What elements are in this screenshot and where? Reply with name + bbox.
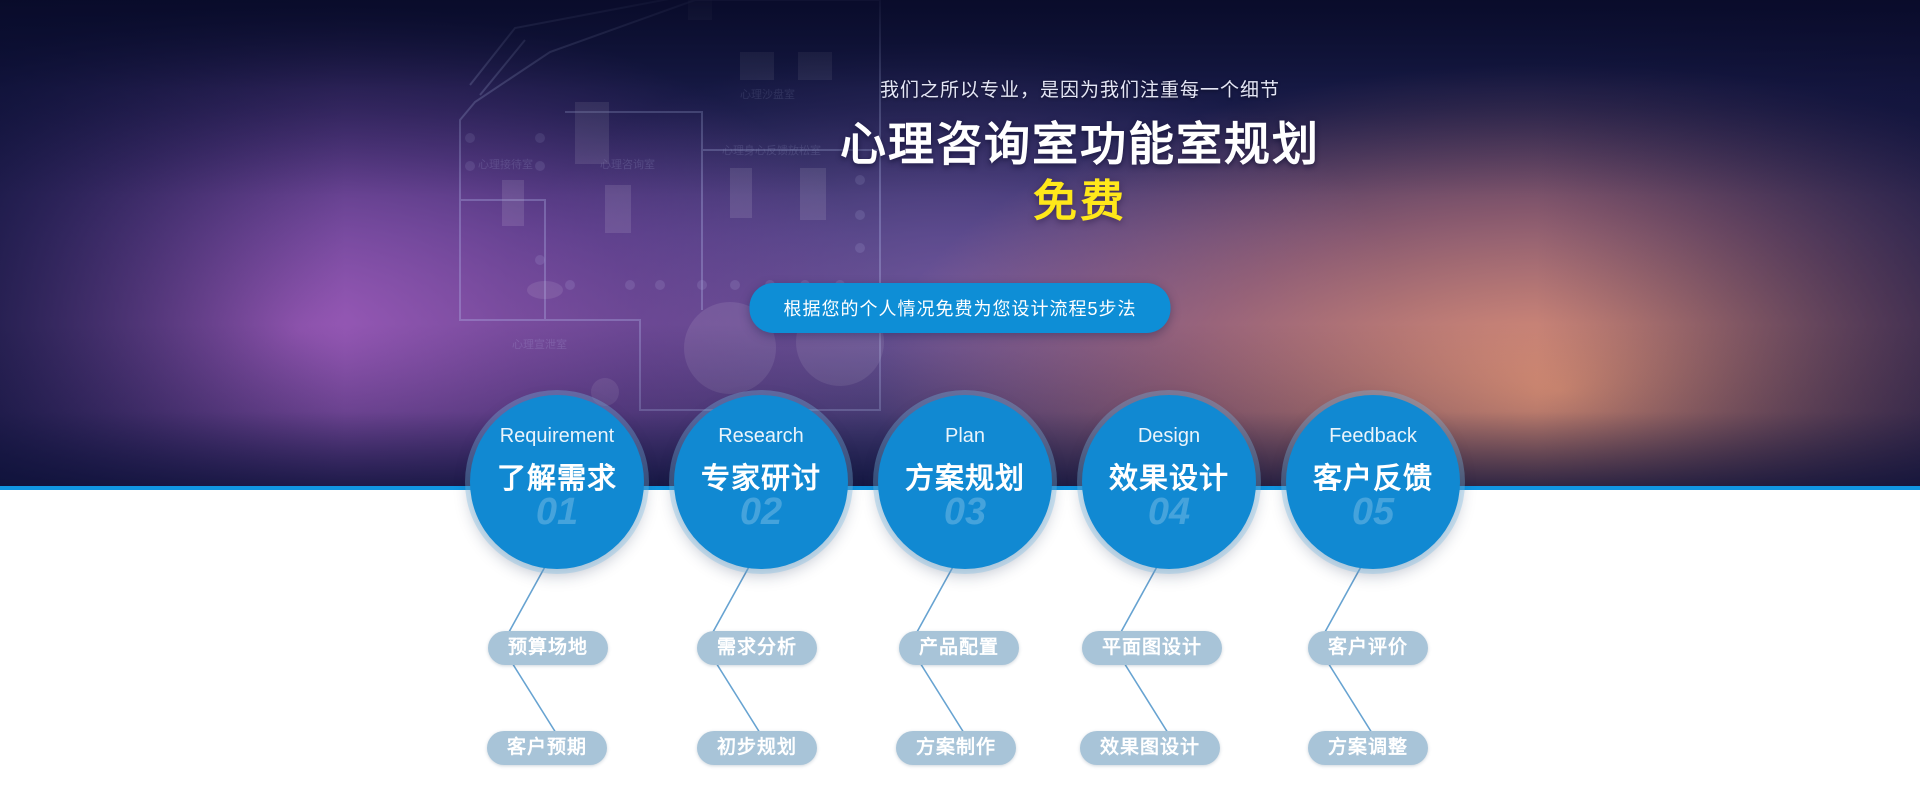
step-2-pill-2[interactable]: 初步规划	[697, 731, 817, 765]
cta-button[interactable]: 根据您的个人情况免费为您设计流程5步法	[749, 283, 1170, 333]
step-4-pill-1[interactable]: 平面图设计	[1082, 631, 1222, 665]
step-circle-number: 04	[1082, 491, 1256, 534]
step-circle-en-label: Plan	[878, 425, 1052, 448]
step-circle-en-label: Feedback	[1286, 425, 1460, 448]
step-circle-1[interactable]: Requirement 了解需求 01	[470, 395, 644, 569]
step-3-pill-1[interactable]: 产品配置	[899, 631, 1019, 665]
step-1-pill-1[interactable]: 预算场地	[488, 631, 608, 665]
step-circle-number: 03	[878, 491, 1052, 534]
step-circle-4[interactable]: Design 效果设计 04	[1082, 395, 1256, 569]
free-badge: 免费	[780, 165, 1380, 229]
step-circle-5[interactable]: Feedback 客户反馈 05	[1286, 395, 1460, 569]
step-5-pill-2[interactable]: 方案调整	[1308, 731, 1428, 765]
step-circle-number: 01	[470, 491, 644, 534]
step-4-pill-2[interactable]: 效果图设计	[1080, 731, 1220, 765]
step-5-pill-1[interactable]: 客户评价	[1308, 631, 1428, 665]
step-circle-en-label: Design	[1082, 425, 1256, 448]
step-circle-3[interactable]: Plan 方案规划 03	[878, 395, 1052, 569]
hero-subheading: 我们之所以专业，是因为我们注重每一个细节	[780, 75, 1380, 102]
step-2-pill-1[interactable]: 需求分析	[697, 631, 817, 665]
step-1-pill-2[interactable]: 客户预期	[487, 731, 607, 765]
step-circle-number: 05	[1286, 491, 1460, 534]
step-circle-number: 02	[674, 491, 848, 534]
step-circle-en-label: Requirement	[470, 425, 644, 448]
step-circle-en-label: Research	[674, 425, 848, 448]
step-circle-2[interactable]: Research 专家研讨 02	[674, 395, 848, 569]
step-3-pill-2[interactable]: 方案制作	[896, 731, 1016, 765]
banner-stage: 心理沙盘室 心理接待室 心理咨询室 心理身心反馈放松室 心理宣泄室 心理团体活动…	[0, 0, 1920, 810]
